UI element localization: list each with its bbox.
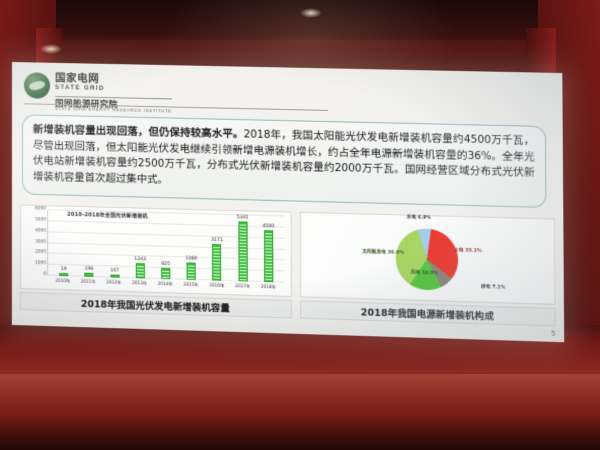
ceiling-light	[300, 8, 322, 18]
bar-chart-bars: 1919610712438251380317153414500	[48, 210, 285, 282]
bar-chart-x-tick-label: 2015年	[178, 280, 204, 293]
bar-value-label: 1380	[185, 256, 197, 261]
bar-chart-x-tick-label: 2017年	[230, 282, 256, 295]
bar-chart-y-tick-label: 6000	[35, 206, 46, 211]
bar-value-label: 196	[85, 267, 94, 272]
bar-chart-column[interactable]: 19	[51, 210, 76, 276]
state-grid-globe-icon	[24, 72, 50, 99]
bar-chart-column[interactable]: 1243	[127, 212, 153, 278]
bar-value-label: 107	[110, 268, 119, 273]
bar-rect[interactable]	[85, 273, 94, 277]
bar-chart-y-tick-label: 0	[43, 272, 46, 277]
bar-chart-x-tick-label: 2012年	[101, 278, 127, 291]
summary-callout-box: 新增装机容量出现回落，但仍保持较高水平。2018年，我国太阳能光伏发电新增装机容…	[22, 114, 547, 207]
bar-chart-y-tick-label: 4000	[35, 228, 46, 233]
bar-chart-column[interactable]: 1380	[178, 214, 204, 281]
bar-chart-x-tick-label: 2013年	[127, 279, 153, 292]
bar-chart-x-tick-label: 2010年	[50, 277, 75, 290]
bar-chart-column[interactable]: 196	[76, 211, 101, 277]
right-chart-caption: 2018年我国电源新增装机构成	[300, 300, 556, 326]
logo-institute-name-en: STATE GRID ENERGY RESEARCH INSTITUTE	[55, 107, 172, 114]
pie-slice-label: 太阳能发电 36.0%	[362, 249, 404, 256]
callout-paragraph: 新增装机容量出现回落，但仍保持较高水平。2018年，我国太阳能光伏发电新增装机容…	[33, 123, 535, 198]
callout-lead-sentence: 新增装机容量出现回落，但仍保持较高水平。	[33, 124, 244, 141]
bar-chart-column[interactable]: 4500	[256, 216, 282, 283]
pie-slice-label: 火电 33.1%	[454, 248, 482, 254]
slide-page-number: 5	[551, 329, 556, 337]
charts-row: 2010-2018年全国光伏新增装机 010002000300040005000…	[20, 204, 556, 326]
bar-rect[interactable]	[136, 263, 145, 279]
bar-rect[interactable]	[161, 268, 170, 279]
left-chart-caption: 2018年我国光伏发电新增装机容量	[20, 292, 292, 318]
ceiling-light	[40, 44, 62, 54]
right-chart-block: 火电 33.1%核电 7.1%风电 16.9%太阳能发电 36.0%水电 6.9…	[300, 212, 556, 327]
carpet-shadow	[0, 414, 600, 450]
bar-chart-column[interactable]: 825	[153, 213, 179, 279]
bar-chart-y-tick-label: 1000	[35, 261, 46, 266]
bar-chart-x-tick-label: 2011年	[76, 277, 102, 290]
carpet-highlight	[0, 374, 600, 408]
bar-rect[interactable]	[238, 221, 247, 281]
bar-chart-column[interactable]: 5341	[230, 215, 256, 282]
bar-value-label: 4500	[262, 224, 274, 229]
bar-chart-column[interactable]: 3171	[204, 214, 230, 281]
bar-value-label: 5341	[237, 215, 249, 220]
state-grid-logo: 国家电网 STATE GRID 国网能源研究院 STATE GRID ENERG…	[24, 72, 172, 114]
bar-chart-plot-area: 0100020003000400050006000191961071243825…	[47, 210, 285, 282]
logo-company-name-en: STATE GRID	[55, 84, 172, 92]
bar-chart-y-tick-label: 3000	[35, 239, 46, 244]
presentation-slide: 国家电网 STATE GRID 国网能源研究院 STATE GRID ENERG…	[12, 62, 564, 342]
logo-text-block: 国家电网 STATE GRID 国网能源研究院 STATE GRID ENERG…	[55, 73, 172, 114]
pie-slice-label: 水电 6.9%	[407, 214, 431, 220]
bar-value-label: 19	[61, 267, 67, 272]
bar-chart-panel: 2010-2018年全国光伏新增装机 010002000300040005000…	[20, 204, 292, 297]
pie-chart-plot-area: 火电 33.1%核电 7.1%风电 16.9%太阳能发电 36.0%水电 6.9…	[301, 213, 555, 304]
bar-value-label: 825	[161, 262, 170, 267]
bar-rect[interactable]	[264, 230, 273, 282]
pie-chart-circle	[396, 228, 459, 291]
bar-chart-column[interactable]: 107	[102, 212, 128, 278]
bar-chart-y-tick-label: 5000	[35, 217, 46, 222]
left-chart-block: 2010-2018年全国光伏新增装机 010002000300040005000…	[20, 204, 292, 318]
pie-chart-panel: 火电 33.1%核电 7.1%风电 16.9%太阳能发电 36.0%水电 6.9…	[300, 212, 556, 305]
bar-chart-x-tick-label: 2018年	[256, 283, 282, 296]
bar-rect[interactable]	[187, 263, 196, 280]
bar-value-label: 1243	[134, 256, 146, 261]
bar-rect[interactable]	[59, 273, 68, 276]
pie-slice-label: 核电 7.1%	[481, 285, 506, 291]
bar-chart-x-tick-label: 2014年	[152, 280, 178, 293]
bar-value-label: 3171	[211, 237, 223, 242]
bar-rect[interactable]	[212, 244, 221, 281]
bar-rect[interactable]	[110, 274, 119, 277]
bar-chart-y-tick-label: 2000	[35, 250, 46, 255]
bar-chart-x-tick-label: 2016年	[204, 281, 230, 294]
pie-slice-label: 风电 16.9%	[411, 270, 439, 276]
